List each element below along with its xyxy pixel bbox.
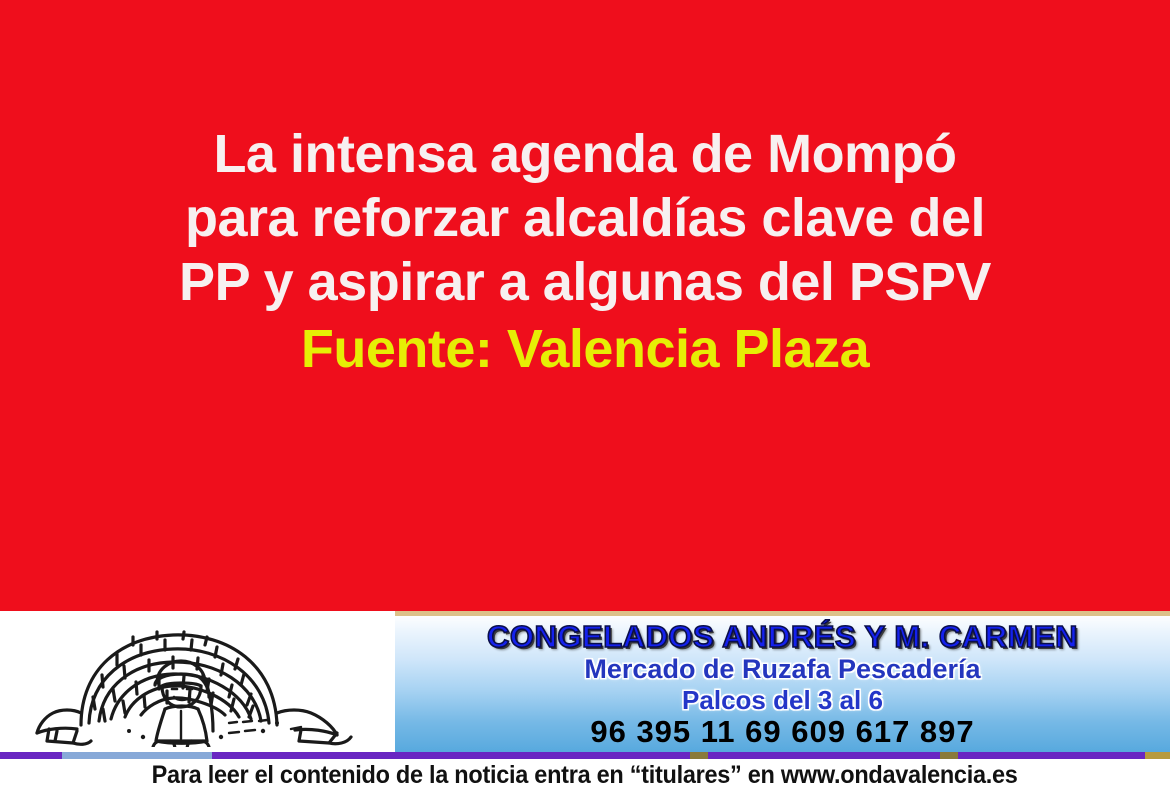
advertisement-banner: CONGELADOS ANDRÉS Y M. CARMEN Mercado de… — [395, 611, 1170, 752]
bottom-strip: CONGELADOS ANDRÉS Y M. CARMEN Mercado de… — [0, 611, 1170, 758]
headline-panel: La intensa agenda de Mompó para reforzar… — [0, 0, 1170, 611]
rule-segment-gold-c — [1145, 752, 1170, 759]
ad-location: Mercado de Ruzafa Pescadería — [395, 654, 1170, 685]
headline-line-3: PP y aspirar a algunas del PSPV — [0, 250, 1170, 314]
ad-phone-numbers: 96 395 11 69 609 617 897 — [395, 715, 1170, 749]
footer-instruction-text: Para leer el contenido de la noticia ent… — [152, 761, 1018, 789]
headline-line-2: para reforzar alcaldías clave del — [0, 186, 1170, 250]
igloo-eskimo-logo — [33, 617, 363, 747]
ad-business-name: CONGELADOS ANDRÉS Y M. CARMEN — [395, 620, 1170, 654]
headline-block: La intensa agenda de Mompó para reforzar… — [0, 122, 1170, 380]
ad-stall-numbers: Palcos del 3 al 6 — [395, 685, 1170, 715]
headline-line-1: La intensa agenda de Mompó — [0, 122, 1170, 186]
rule-segment-light — [62, 752, 212, 759]
source-attribution: Fuente: Valencia Plaza — [0, 318, 1170, 380]
footer-bar: Para leer el contenido de la noticia ent… — [0, 759, 1170, 791]
rule-segment-gold-a — [690, 752, 708, 759]
news-slide: La intensa agenda de Mompó para reforzar… — [0, 0, 1170, 791]
advertiser-logo-panel — [0, 611, 395, 752]
rule-segment-gold-b — [940, 752, 958, 759]
separator-rule — [0, 752, 1170, 759]
